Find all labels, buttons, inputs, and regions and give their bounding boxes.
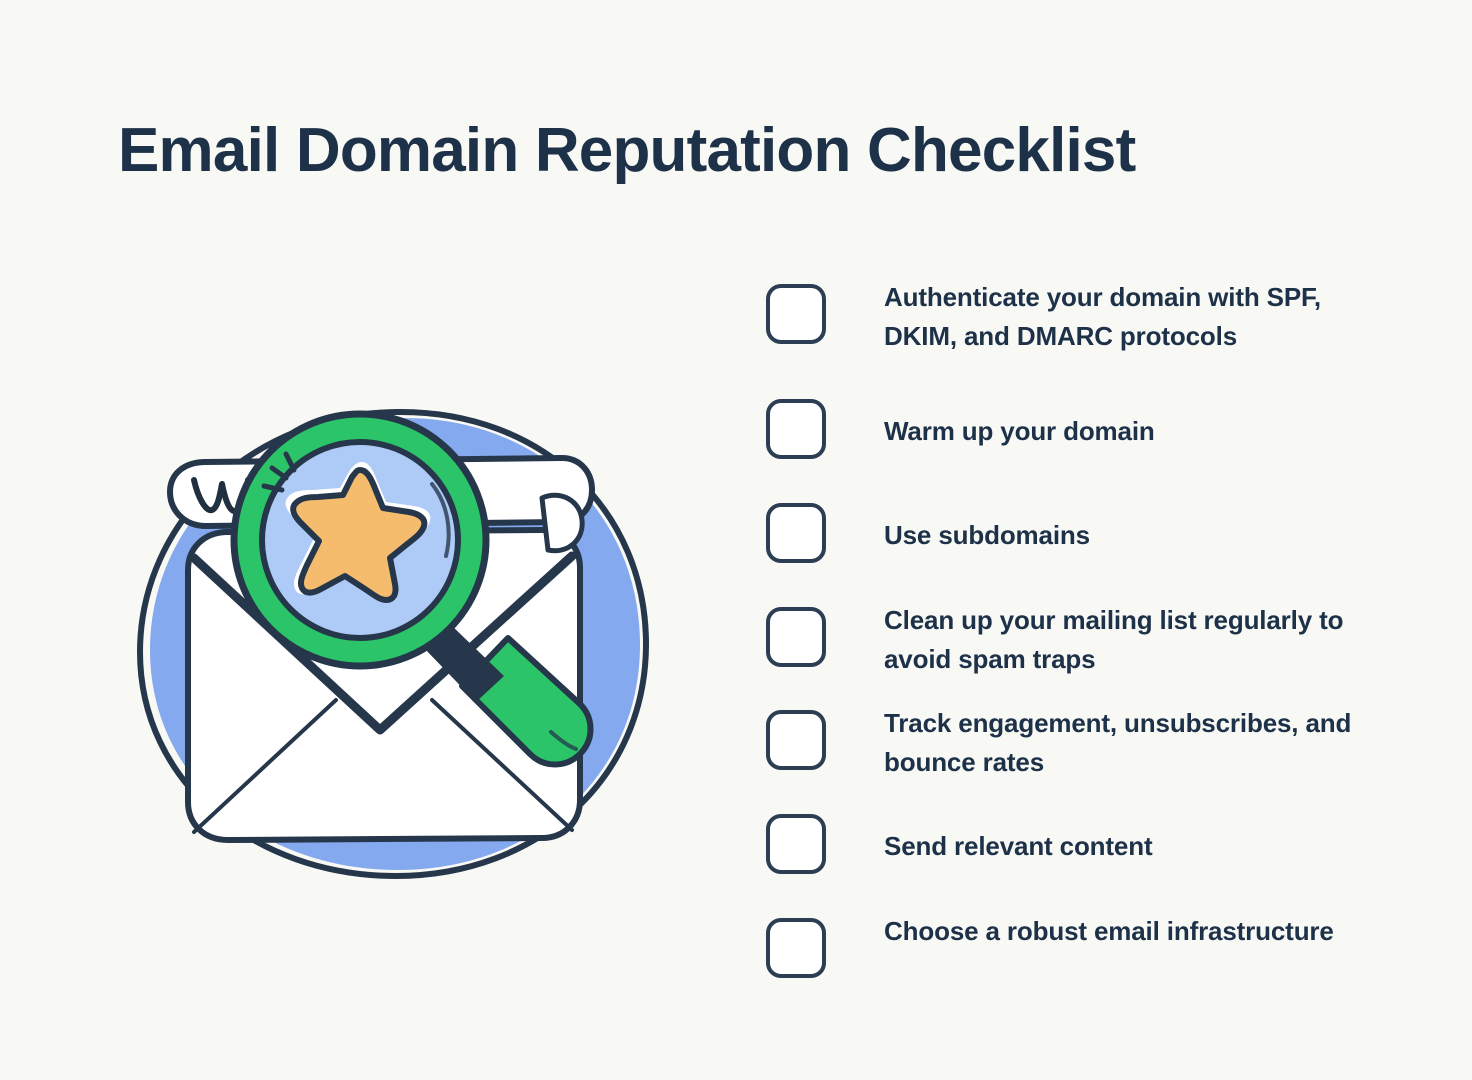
checkbox-6[interactable] bbox=[766, 814, 826, 874]
checkbox-5[interactable] bbox=[766, 710, 826, 770]
checklist-item-2-label: Warm up your domain bbox=[884, 412, 1386, 451]
checklist-item-3[interactable]: Use subdomains bbox=[766, 499, 1386, 563]
checklist-item-7[interactable]: Choose a robust email infrastructure bbox=[766, 914, 1386, 978]
checklist-item-4-label: Clean up your mailing list regularly to … bbox=[884, 601, 1386, 679]
checklist-item-2[interactable]: Warm up your domain bbox=[766, 395, 1386, 459]
checkbox-7[interactable] bbox=[766, 918, 826, 978]
checkbox-4[interactable] bbox=[766, 607, 826, 667]
checklist-item-1-label: Authenticate your domain with SPF, DKIM,… bbox=[884, 278, 1386, 356]
checklist-item-5-label: Track engagement, unsubscribes, and boun… bbox=[884, 704, 1386, 782]
checklist-item-1[interactable]: Authenticate your domain with SPF, DKIM,… bbox=[766, 280, 1386, 356]
checkbox-2[interactable] bbox=[766, 399, 826, 459]
checkbox-3[interactable] bbox=[766, 503, 826, 563]
checklist-infographic: Email Domain Reputation Checklist bbox=[0, 0, 1472, 1080]
checklist-item-4[interactable]: Clean up your mailing list regularly to … bbox=[766, 603, 1386, 679]
checklist-item-7-label: Choose a robust email infrastructure bbox=[884, 912, 1386, 951]
checklist-item-6-label: Send relevant content bbox=[884, 827, 1386, 866]
checklist-item-5[interactable]: Track engagement, unsubscribes, and boun… bbox=[766, 706, 1386, 782]
checklist-item-6[interactable]: Send relevant content bbox=[766, 810, 1386, 874]
email-domain-reputation-illustration bbox=[110, 380, 680, 900]
page-title: Email Domain Reputation Checklist bbox=[118, 112, 1378, 190]
checkbox-1[interactable] bbox=[766, 284, 826, 344]
checklist-item-3-label: Use subdomains bbox=[884, 516, 1386, 555]
